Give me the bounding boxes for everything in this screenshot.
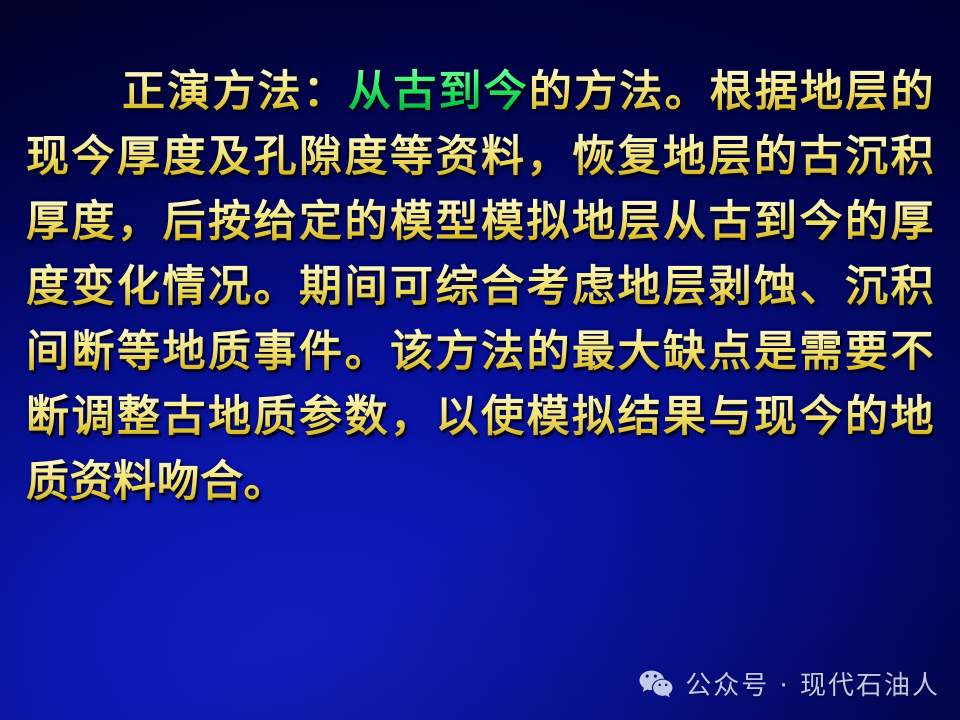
watermark-label: 公众号 · 现代石油人 — [685, 665, 940, 702]
body-segment-highlight: 从古到今 — [348, 67, 529, 117]
wechat-watermark: 公众号 · 现代石油人 — [639, 665, 940, 702]
slide-body-text: 正演方法：从古到今的方法。根据地层的现今厚度及孔隙度等资料，恢复地层的古沉积厚度… — [26, 60, 934, 515]
body-segment-heading: 正演方法： — [122, 67, 348, 117]
slide-canvas: 正演方法：从古到今的方法。根据地层的现今厚度及孔隙度等资料，恢复地层的古沉积厚度… — [0, 0, 960, 720]
body-segment-main: 的方法。根据地层的现今厚度及孔隙度等资料，恢复地层的古沉积厚度，后按给定的模型模… — [26, 67, 934, 507]
wechat-icon — [639, 669, 673, 699]
